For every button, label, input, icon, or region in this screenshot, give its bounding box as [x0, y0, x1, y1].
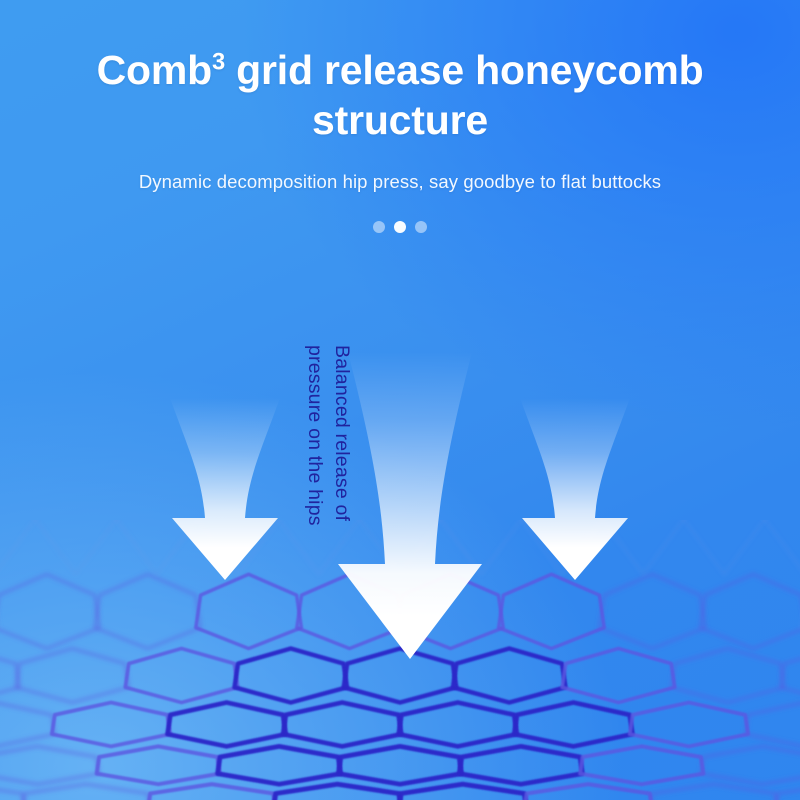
page-title-suffix: grid release honeycomb — [225, 47, 703, 93]
pressure-arrow-left — [150, 398, 300, 588]
promo-banner: Balanced release of pressure on the hips… — [0, 0, 800, 800]
vertical-caption: Balanced release of pressure on the hips — [301, 345, 355, 605]
page-subtitle: Dynamic decomposition hip press, say goo… — [0, 171, 800, 193]
carousel-dot-3[interactable] — [415, 221, 427, 233]
page-title-prefix: Comb — [97, 47, 212, 93]
page-title-line-1: Comb3 grid release honeycomb — [97, 47, 704, 93]
carousel-dot-1[interactable] — [373, 221, 385, 233]
vertical-caption-line-1: Balanced release of — [328, 345, 355, 605]
pressure-arrow-right — [500, 398, 650, 588]
page-title: Comb3 grid release honeycomb structure — [0, 45, 800, 145]
page-title-line-2: structure — [312, 97, 488, 143]
vertical-caption-line-2: pressure on the hips — [301, 345, 328, 605]
carousel-dots[interactable] — [0, 221, 800, 233]
page-title-superscript: 3 — [212, 49, 225, 76]
carousel-dot-2[interactable] — [394, 221, 406, 233]
